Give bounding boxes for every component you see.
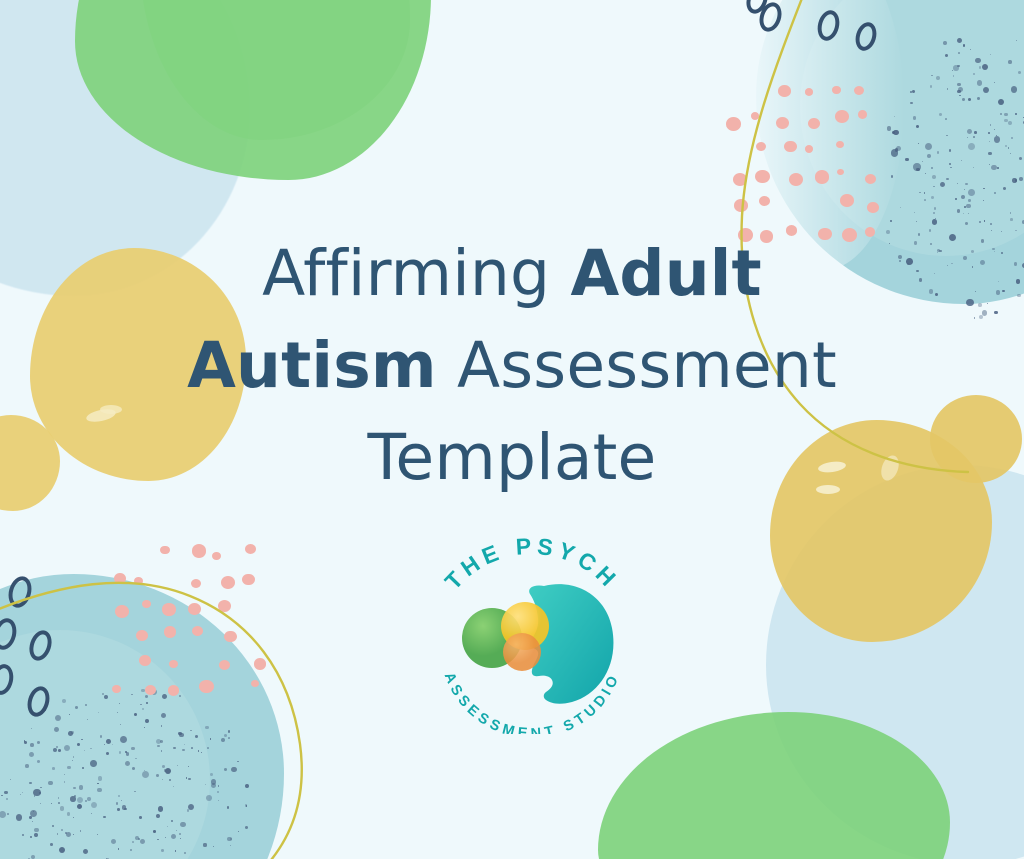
logo-top-arc-text: THE PSYCH [440, 534, 625, 594]
headline-line-3: Template [0, 412, 1024, 504]
headline-line-1: Affirming Adult [0, 228, 1024, 320]
headline-prefix: Affirming [262, 237, 570, 310]
headline-suffix: Assessment [437, 329, 837, 402]
page-title: Affirming Adult Autism Assessment Templa… [0, 228, 1024, 504]
logo-bubbles [462, 602, 549, 671]
brand-logo: THE PSYCH ASSESSMENT STUDIO [412, 534, 652, 734]
headline-bold-adult: Adult [570, 237, 761, 310]
poster-canvas: Affirming Adult Autism Assessment Templa… [0, 0, 1024, 859]
orange-bubble-icon [503, 633, 541, 671]
face-profile-icon [529, 584, 613, 704]
logo-svg: THE PSYCH ASSESSMENT STUDIO [412, 534, 652, 734]
headline-line-2: Autism Assessment [0, 320, 1024, 412]
bottom-left-yellow-curve [0, 583, 302, 859]
headline-bold-autism: Autism [187, 329, 437, 402]
